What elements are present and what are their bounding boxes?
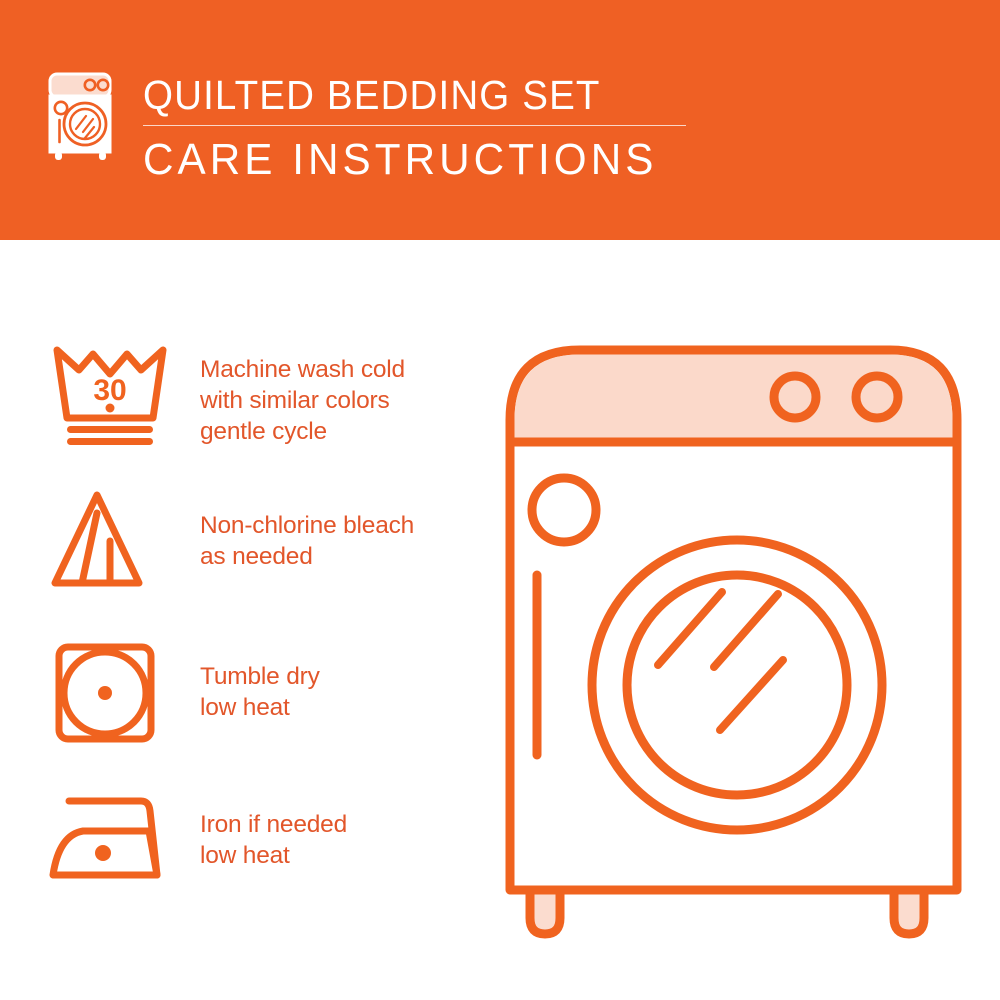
care-item-tumble-dry: Tumble dry low heat [0,633,470,783]
iron-low-heat-symbol [45,783,175,903]
care-item-label: Non-chlorine bleach as needed [200,510,414,572]
washing-machine-icon [45,70,117,162]
machine-wash-30-gentle-symbol: 30 [45,340,175,460]
title-divider [143,125,686,126]
care-item-label: Machine wash cold with similar colors ge… [200,354,405,447]
care-item-bleach: Non-chlorine bleach as needed [0,483,470,633]
header-text-block: QUILTED BEDDING SET CARE INSTRUCTIONS [143,72,703,185]
header-banner: QUILTED BEDDING SET CARE INSTRUCTIONS [0,0,1000,240]
care-item-label: Tumble dry low heat [200,661,320,723]
leg-left [530,890,560,934]
care-item-label: Iron if needed low heat [200,809,347,871]
care-item-iron: Iron if needed low heat [0,783,470,933]
page-title: QUILTED BEDDING SET [143,72,669,118]
wash-temperature-value: 30 [93,374,126,407]
page-subtitle: CARE INSTRUCTIONS [143,135,681,185]
leg-right [894,890,924,934]
care-instructions-page: QUILTED BEDDING SET CARE INSTRUCTIONS 30… [0,0,1000,1000]
washing-machine-illustration [490,330,970,940]
tumble-dry-low-heat-symbol [45,633,175,753]
non-chlorine-bleach-symbol [45,483,175,603]
control-panel [515,355,953,443]
care-instruction-list: 30 Machine wash cold with similar colors… [0,240,480,1000]
care-item-machine-wash: 30 Machine wash cold with similar colors… [0,340,470,490]
